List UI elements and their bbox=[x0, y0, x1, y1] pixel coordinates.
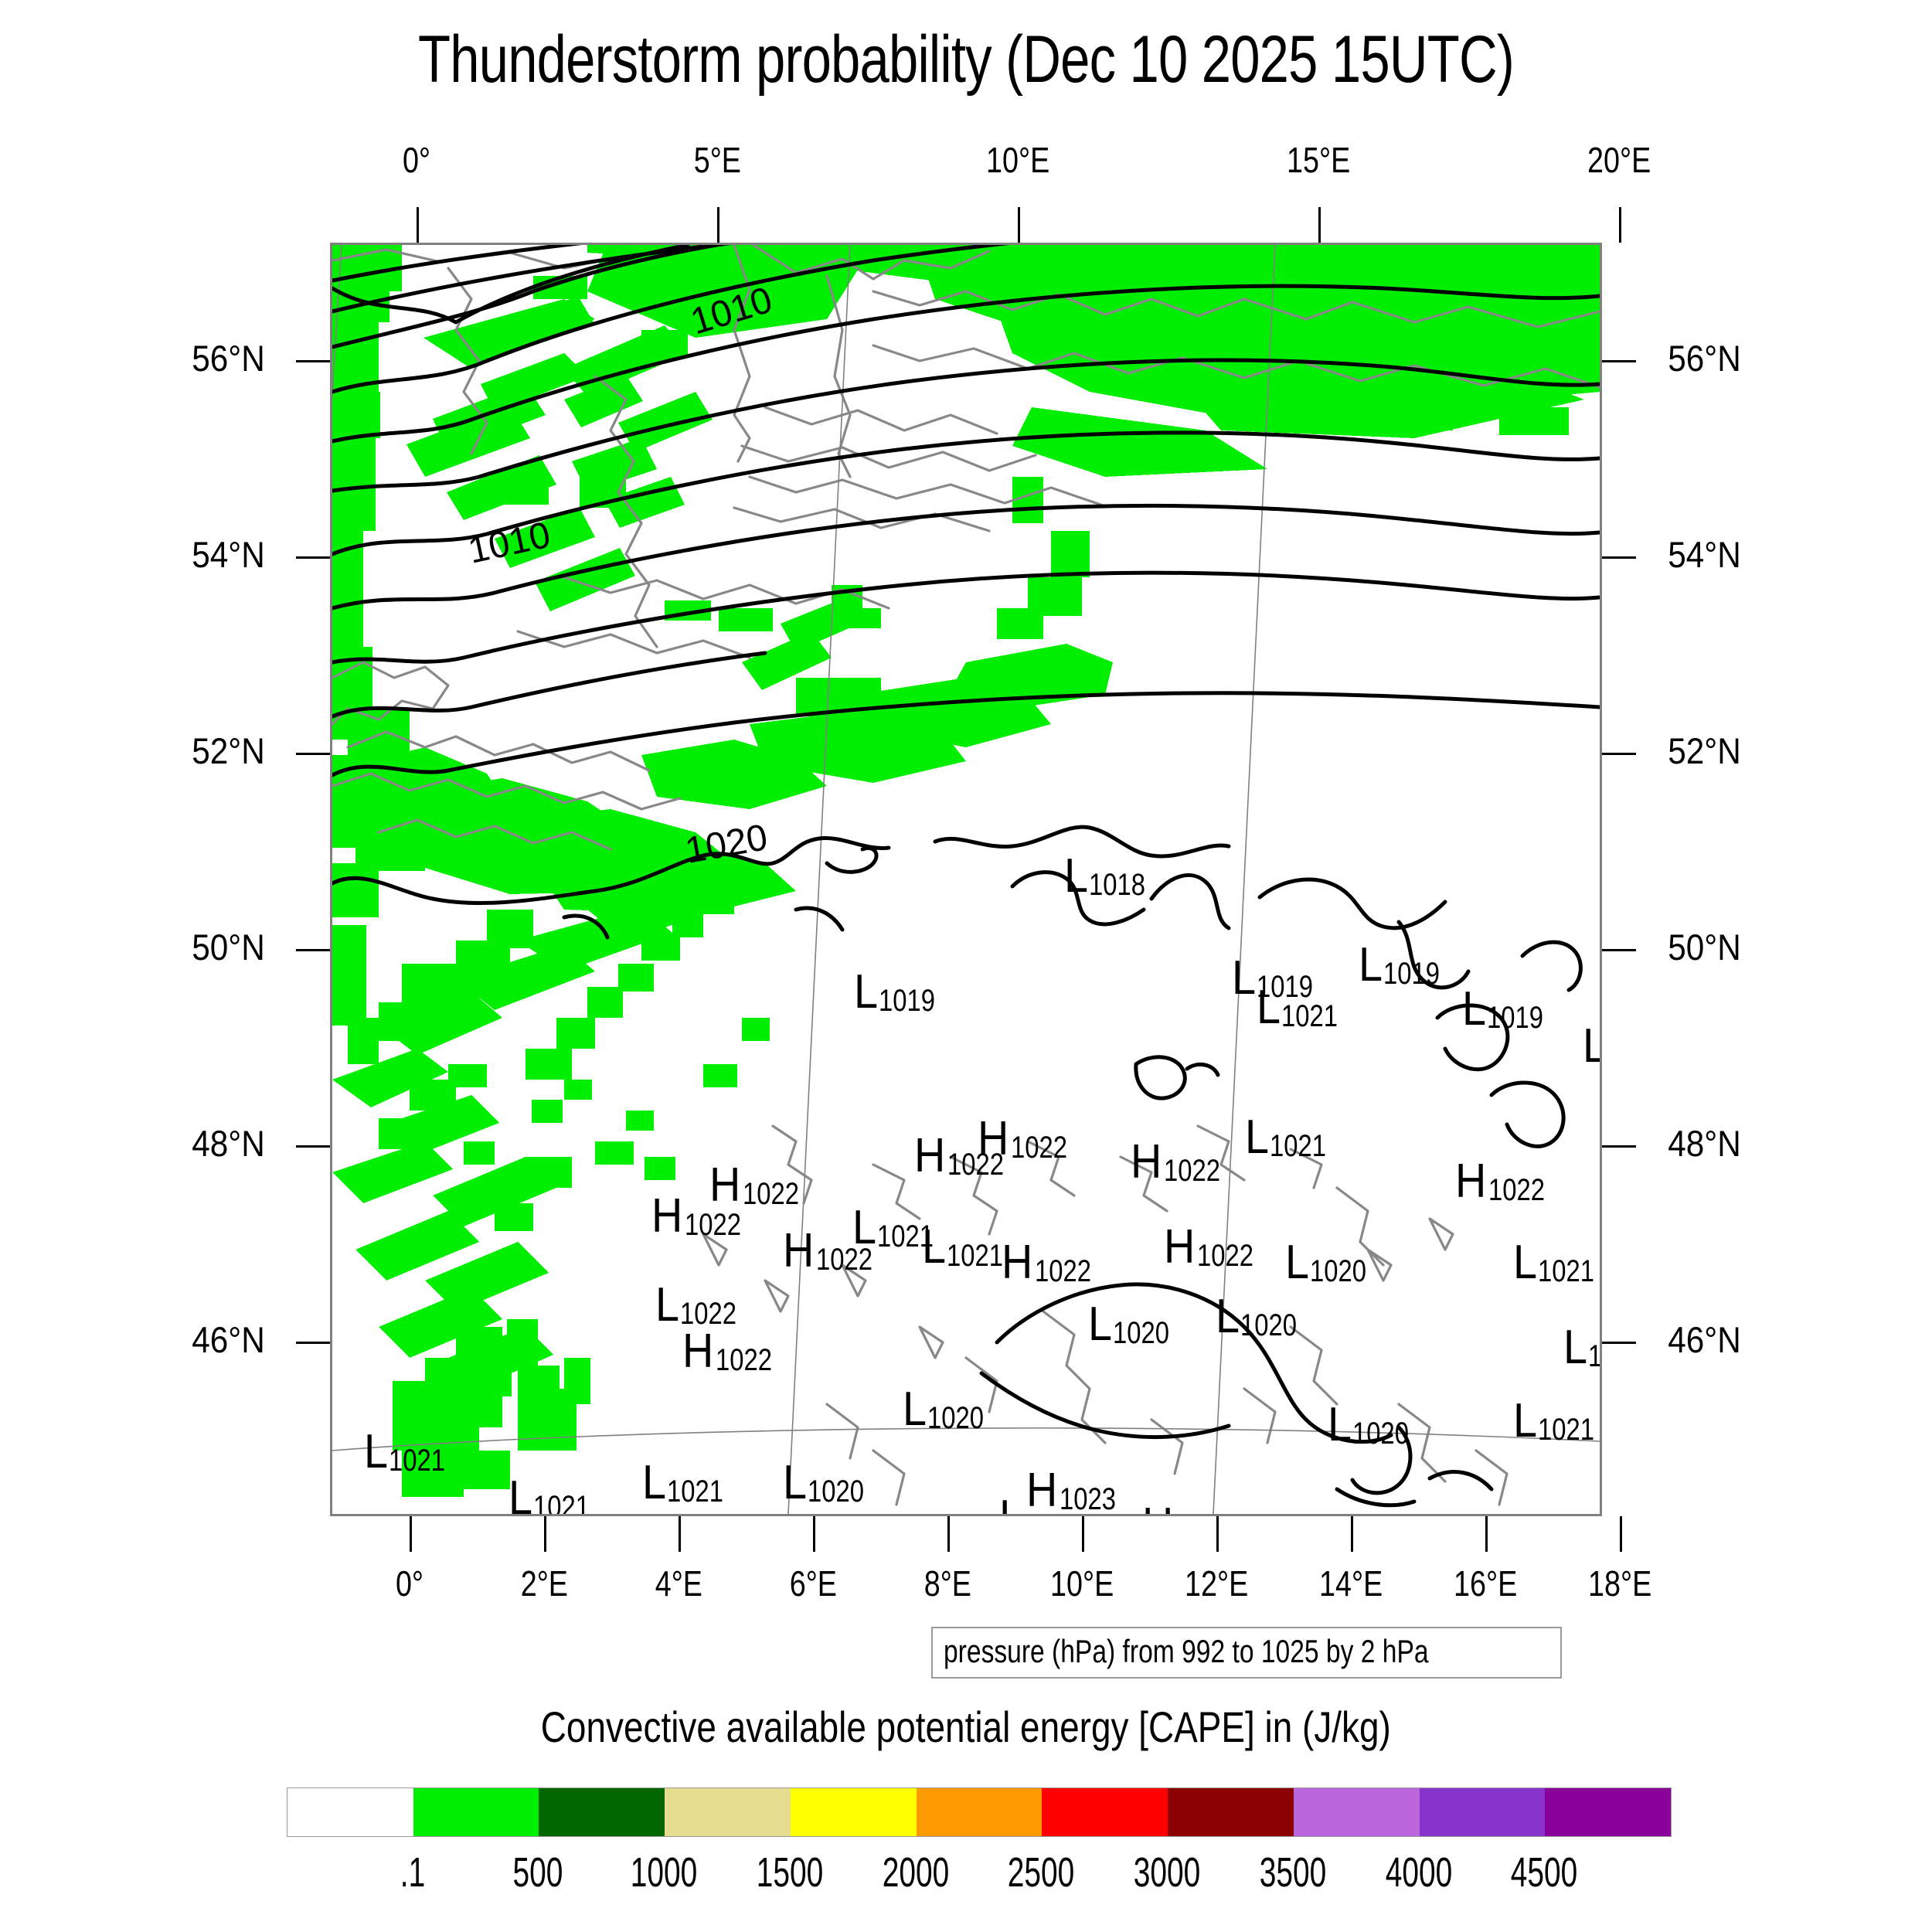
pressure-marker-l: L1021 bbox=[1257, 984, 1352, 1032]
colorbar-tick-label: 3500 bbox=[1260, 1849, 1327, 1896]
marker-letter: L bbox=[642, 1459, 666, 1507]
bottom-lon-tick bbox=[947, 1516, 950, 1552]
pressure-marker-l: L1 bbox=[1583, 1022, 1602, 1070]
bottom-lon-label: 14°E bbox=[1319, 1563, 1383, 1604]
marker-letter: L bbox=[922, 1223, 946, 1271]
marker-letter: H bbox=[1164, 1223, 1195, 1271]
colorbar-tick-label: 4000 bbox=[1385, 1849, 1452, 1896]
marker-value: 1022 bbox=[1488, 1175, 1545, 1206]
bottom-lon-label: 6°E bbox=[789, 1563, 836, 1604]
bottom-lon-label: 8°E bbox=[923, 1563, 971, 1604]
right-lat-label: 46°N bbox=[1668, 1318, 1741, 1361]
marker-letter: L bbox=[1563, 1324, 1587, 1372]
marker-letter: L bbox=[1513, 1239, 1537, 1287]
right-lat-tick bbox=[1602, 556, 1636, 559]
marker-letter: H bbox=[1002, 1239, 1032, 1287]
marker-letter: L bbox=[999, 1494, 1023, 1516]
marker-letter: L bbox=[1088, 1301, 1112, 1349]
colorbar-tick-label: 2500 bbox=[1008, 1849, 1075, 1896]
pressure-marker-h: H1023 bbox=[1026, 1467, 1130, 1515]
right-lat-tick bbox=[1602, 360, 1636, 362]
left-lat-label: 50°N bbox=[192, 926, 265, 968]
colorbar-swatch[interactable] bbox=[1420, 1788, 1546, 1836]
colorbar-swatch[interactable] bbox=[1545, 1788, 1671, 1836]
bottom-lon-tick bbox=[813, 1516, 815, 1552]
pressure-marker-h: H1022 bbox=[1131, 1138, 1234, 1186]
pressure-marker-h: H1022 bbox=[914, 1132, 1018, 1180]
top-lon-label: 10°E bbox=[986, 139, 1049, 181]
colorbar-swatch[interactable] bbox=[413, 1788, 539, 1836]
bottom-lon-tick bbox=[1216, 1516, 1219, 1552]
map-canvas: 1010 1010 1020 bbox=[332, 245, 1600, 1514]
marker-value: 1018 bbox=[1089, 869, 1145, 900]
pressure-range-note: pressure (hPa) from 992 to 1025 by 2 hPa bbox=[931, 1627, 1562, 1679]
marker-value: 1019 bbox=[879, 985, 935, 1016]
bottom-lon-label: 16°E bbox=[1454, 1563, 1517, 1604]
right-lat-tick bbox=[1602, 1342, 1636, 1344]
marker-value: 1020 bbox=[1352, 1418, 1409, 1449]
bottom-lon-tick bbox=[679, 1516, 681, 1552]
left-lat-label: 52°N bbox=[192, 730, 265, 772]
colorbar-swatch[interactable] bbox=[917, 1788, 1043, 1836]
left-lat-label: 56°N bbox=[192, 337, 265, 379]
marker-letter: L bbox=[655, 1281, 679, 1329]
pressure-marker-l: L1022 bbox=[655, 1281, 750, 1329]
colorbar-tick-label: 500 bbox=[513, 1849, 563, 1896]
marker-value: 1022 bbox=[1011, 1132, 1067, 1163]
colorbar-tick-label: 3000 bbox=[1134, 1849, 1201, 1896]
marker-value: 1022 bbox=[1035, 1256, 1091, 1287]
marker-letter: H bbox=[1142, 1502, 1173, 1516]
right-lat-label: 54°N bbox=[1668, 533, 1741, 576]
pressure-marker-l: L1021 bbox=[509, 1475, 604, 1516]
bottom-lon-tick bbox=[1620, 1516, 1622, 1552]
marker-value: 1021 bbox=[1270, 1131, 1326, 1162]
colorbar-caption: Convective available potential energy [C… bbox=[0, 1702, 1932, 1752]
colorbar-swatch[interactable] bbox=[287, 1788, 413, 1836]
pressure-marker-l: L1019 bbox=[854, 968, 949, 1016]
pressure-marker-h: H1022 bbox=[1002, 1239, 1105, 1287]
colorbar-swatch[interactable] bbox=[665, 1788, 791, 1836]
pressure-marker-l: L1020 bbox=[1285, 1239, 1380, 1287]
left-lat-tick bbox=[296, 949, 330, 951]
pressure-marker-l: L1020 bbox=[1216, 1293, 1311, 1341]
marker-letter: L bbox=[1232, 954, 1256, 1002]
marker-value: 1021 bbox=[1281, 1001, 1338, 1032]
marker-letter: H bbox=[682, 1328, 713, 1376]
left-lat-tick bbox=[296, 556, 330, 559]
left-lat-label: 46°N bbox=[192, 1318, 265, 1361]
left-lat-label: 48°N bbox=[192, 1122, 265, 1165]
marker-letter: L bbox=[1285, 1239, 1309, 1287]
top-lon-tick bbox=[717, 207, 719, 243]
marker-letter: L bbox=[854, 968, 878, 1016]
cape-colorbar[interactable] bbox=[287, 1787, 1672, 1837]
bottom-lon-label: 12°E bbox=[1185, 1563, 1248, 1604]
right-lat-tick bbox=[1602, 949, 1636, 951]
colorbar-tick-label: 1000 bbox=[631, 1849, 698, 1896]
right-lat-tick bbox=[1602, 753, 1636, 755]
left-lat-tick bbox=[296, 753, 330, 755]
pressure-marker-l: L1020 bbox=[1328, 1401, 1423, 1449]
marker-value: 1023 bbox=[1060, 1484, 1116, 1515]
colorbar-tick-label: 4500 bbox=[1511, 1849, 1578, 1896]
contour-label-1010-b: 1010 bbox=[464, 515, 553, 572]
marker-value: 1021 bbox=[533, 1492, 590, 1516]
marker-value: 1022 bbox=[716, 1345, 772, 1376]
colorbar-caption-text: Convective available potential energy [C… bbox=[541, 1702, 1391, 1752]
marker-letter: L bbox=[1462, 985, 1486, 1033]
marker-value: 1019 bbox=[1383, 958, 1440, 989]
marker-letter: H bbox=[1455, 1158, 1486, 1206]
bottom-lon-tick bbox=[544, 1516, 546, 1552]
marker-letter: H bbox=[783, 1227, 814, 1275]
left-lat-tick bbox=[296, 1342, 330, 1344]
pressure-marker-l: L1020 bbox=[1088, 1301, 1183, 1349]
colorbar-swatch[interactable] bbox=[1294, 1788, 1420, 1836]
colorbar-tick-label: 1500 bbox=[757, 1849, 824, 1896]
colorbar-swatch[interactable] bbox=[1168, 1788, 1294, 1836]
marker-letter: L bbox=[1328, 1401, 1352, 1449]
marker-value: 1020 bbox=[927, 1403, 984, 1434]
marker-value: 1020 bbox=[1310, 1256, 1366, 1287]
bottom-lon-label: 2°E bbox=[520, 1563, 567, 1604]
pressure-marker-h: H1022 bbox=[651, 1192, 755, 1240]
marker-letter: H bbox=[1026, 1467, 1057, 1515]
right-lat-tick bbox=[1602, 1145, 1636, 1148]
top-lon-tick bbox=[1018, 207, 1020, 243]
top-lon-tick bbox=[1619, 207, 1621, 243]
marker-value: 102 bbox=[1588, 1341, 1602, 1372]
pressure-marker-l: L1021 bbox=[1245, 1114, 1340, 1162]
bottom-lon-tick bbox=[1082, 1516, 1084, 1552]
colorbar-swatch[interactable] bbox=[1042, 1788, 1168, 1836]
marker-value: 1021 bbox=[389, 1445, 445, 1476]
marker-value: 1020 bbox=[1113, 1318, 1169, 1349]
marker-letter: H bbox=[914, 1132, 945, 1180]
marker-letter: H bbox=[1131, 1138, 1162, 1186]
colorbar-swatch[interactable] bbox=[539, 1788, 665, 1836]
top-lon-tick bbox=[417, 207, 419, 243]
right-lat-label: 56°N bbox=[1668, 337, 1741, 379]
marker-letter: L bbox=[1245, 1114, 1269, 1162]
marker-letter: L bbox=[1216, 1293, 1240, 1341]
marker-letter: L bbox=[1583, 1022, 1602, 1070]
left-lat-tick bbox=[296, 360, 330, 362]
pressure-marker-l: L1021 bbox=[1513, 1239, 1602, 1287]
colorbar-tick-label: 2000 bbox=[882, 1849, 949, 1896]
pressure-marker-h: H1022 bbox=[1455, 1158, 1559, 1206]
bottom-lon-tick bbox=[1351, 1516, 1353, 1552]
page-title: Thunderstorm probability (Dec 10 2025 15… bbox=[193, 22, 1739, 98]
marker-value: 1022 bbox=[1164, 1155, 1220, 1186]
bottom-lon-label: 4°E bbox=[655, 1563, 702, 1604]
marker-value: 1021 bbox=[667, 1476, 723, 1507]
marker-value: 1022 bbox=[947, 1149, 1004, 1180]
right-lat-label: 50°N bbox=[1668, 926, 1741, 968]
marker-value: 1019 bbox=[1487, 1002, 1543, 1033]
bottom-lon-label: 0° bbox=[396, 1563, 423, 1604]
marker-value: 1020 bbox=[1240, 1310, 1297, 1341]
bottom-lon-label: 18°E bbox=[1588, 1563, 1651, 1604]
pressure-marker-h: H1022 bbox=[1164, 1223, 1267, 1271]
marker-value: 1021 bbox=[1538, 1414, 1594, 1445]
right-lat-label: 48°N bbox=[1668, 1122, 1741, 1165]
left-lat-label: 54°N bbox=[192, 533, 265, 576]
marker-letter: L bbox=[1257, 984, 1281, 1032]
cape-colorbar-labels: .150010001500200025003000350040004500 bbox=[287, 1849, 1670, 1903]
marker-letter: L bbox=[783, 1459, 807, 1507]
pressure-marker-l: L1020 bbox=[783, 1459, 878, 1507]
pressure-marker-h: H1022 bbox=[783, 1227, 886, 1275]
top-lon-label: 15°E bbox=[1287, 139, 1350, 181]
marker-letter: H bbox=[1598, 1428, 1602, 1476]
colorbar-swatch[interactable] bbox=[791, 1788, 917, 1836]
top-lon-label: 20°E bbox=[1587, 139, 1651, 181]
marker-value: 1021 bbox=[947, 1240, 1003, 1271]
marker-value: 1020 bbox=[808, 1476, 864, 1507]
bottom-lon-tick bbox=[1485, 1516, 1488, 1552]
marker-letter: H bbox=[651, 1192, 682, 1240]
marker-letter: L bbox=[1513, 1397, 1537, 1445]
pressure-marker-l: L102 bbox=[1563, 1324, 1602, 1372]
pressure-marker-h: H bbox=[1142, 1502, 1177, 1516]
pressure-marker-l: L1021 bbox=[1513, 1397, 1602, 1445]
top-lon-label: 5°E bbox=[693, 139, 740, 181]
colorbar-tick-label: .1 bbox=[400, 1849, 425, 1896]
right-lat-label: 52°N bbox=[1668, 730, 1741, 772]
pressure-range-text: pressure (hPa) from 992 to 1025 by 2 hPa bbox=[944, 1633, 1429, 1670]
bottom-lon-label: 10°E bbox=[1050, 1563, 1114, 1604]
pressure-marker-l: L1020 bbox=[903, 1386, 998, 1434]
marker-letter: L bbox=[364, 1428, 388, 1476]
marker-value: 1021 bbox=[1538, 1256, 1594, 1287]
pressure-marker-h: H1022 bbox=[682, 1328, 786, 1376]
cape-shading-layer bbox=[332, 245, 1600, 1497]
pressure-marker-l: L1019 bbox=[1359, 941, 1454, 989]
marker-letter: L bbox=[1064, 852, 1088, 900]
marker-letter: L bbox=[509, 1475, 532, 1516]
marker-letter: L bbox=[903, 1386, 927, 1434]
marker-value: 1022 bbox=[1197, 1240, 1253, 1271]
map-plot-area[interactable]: 1010 1010 1020 L1018L1019L1019L1019L1019… bbox=[330, 243, 1602, 1516]
bottom-lon-tick bbox=[410, 1516, 412, 1552]
pressure-marker-l: L1019 bbox=[1462, 985, 1557, 1033]
pressure-marker-l: L1018 bbox=[1064, 852, 1159, 900]
marker-letter: L bbox=[1359, 941, 1383, 989]
pressure-marker-h: H1 bbox=[1598, 1428, 1602, 1476]
marker-value: 1022 bbox=[816, 1244, 872, 1275]
top-lon-label: 0° bbox=[403, 139, 430, 181]
pressure-marker-l: L1021 bbox=[364, 1428, 459, 1476]
top-lon-tick bbox=[1318, 207, 1321, 243]
left-lat-tick bbox=[296, 1145, 330, 1148]
pressure-marker-l: L1021 bbox=[642, 1459, 737, 1507]
marker-value: 1022 bbox=[685, 1209, 741, 1240]
